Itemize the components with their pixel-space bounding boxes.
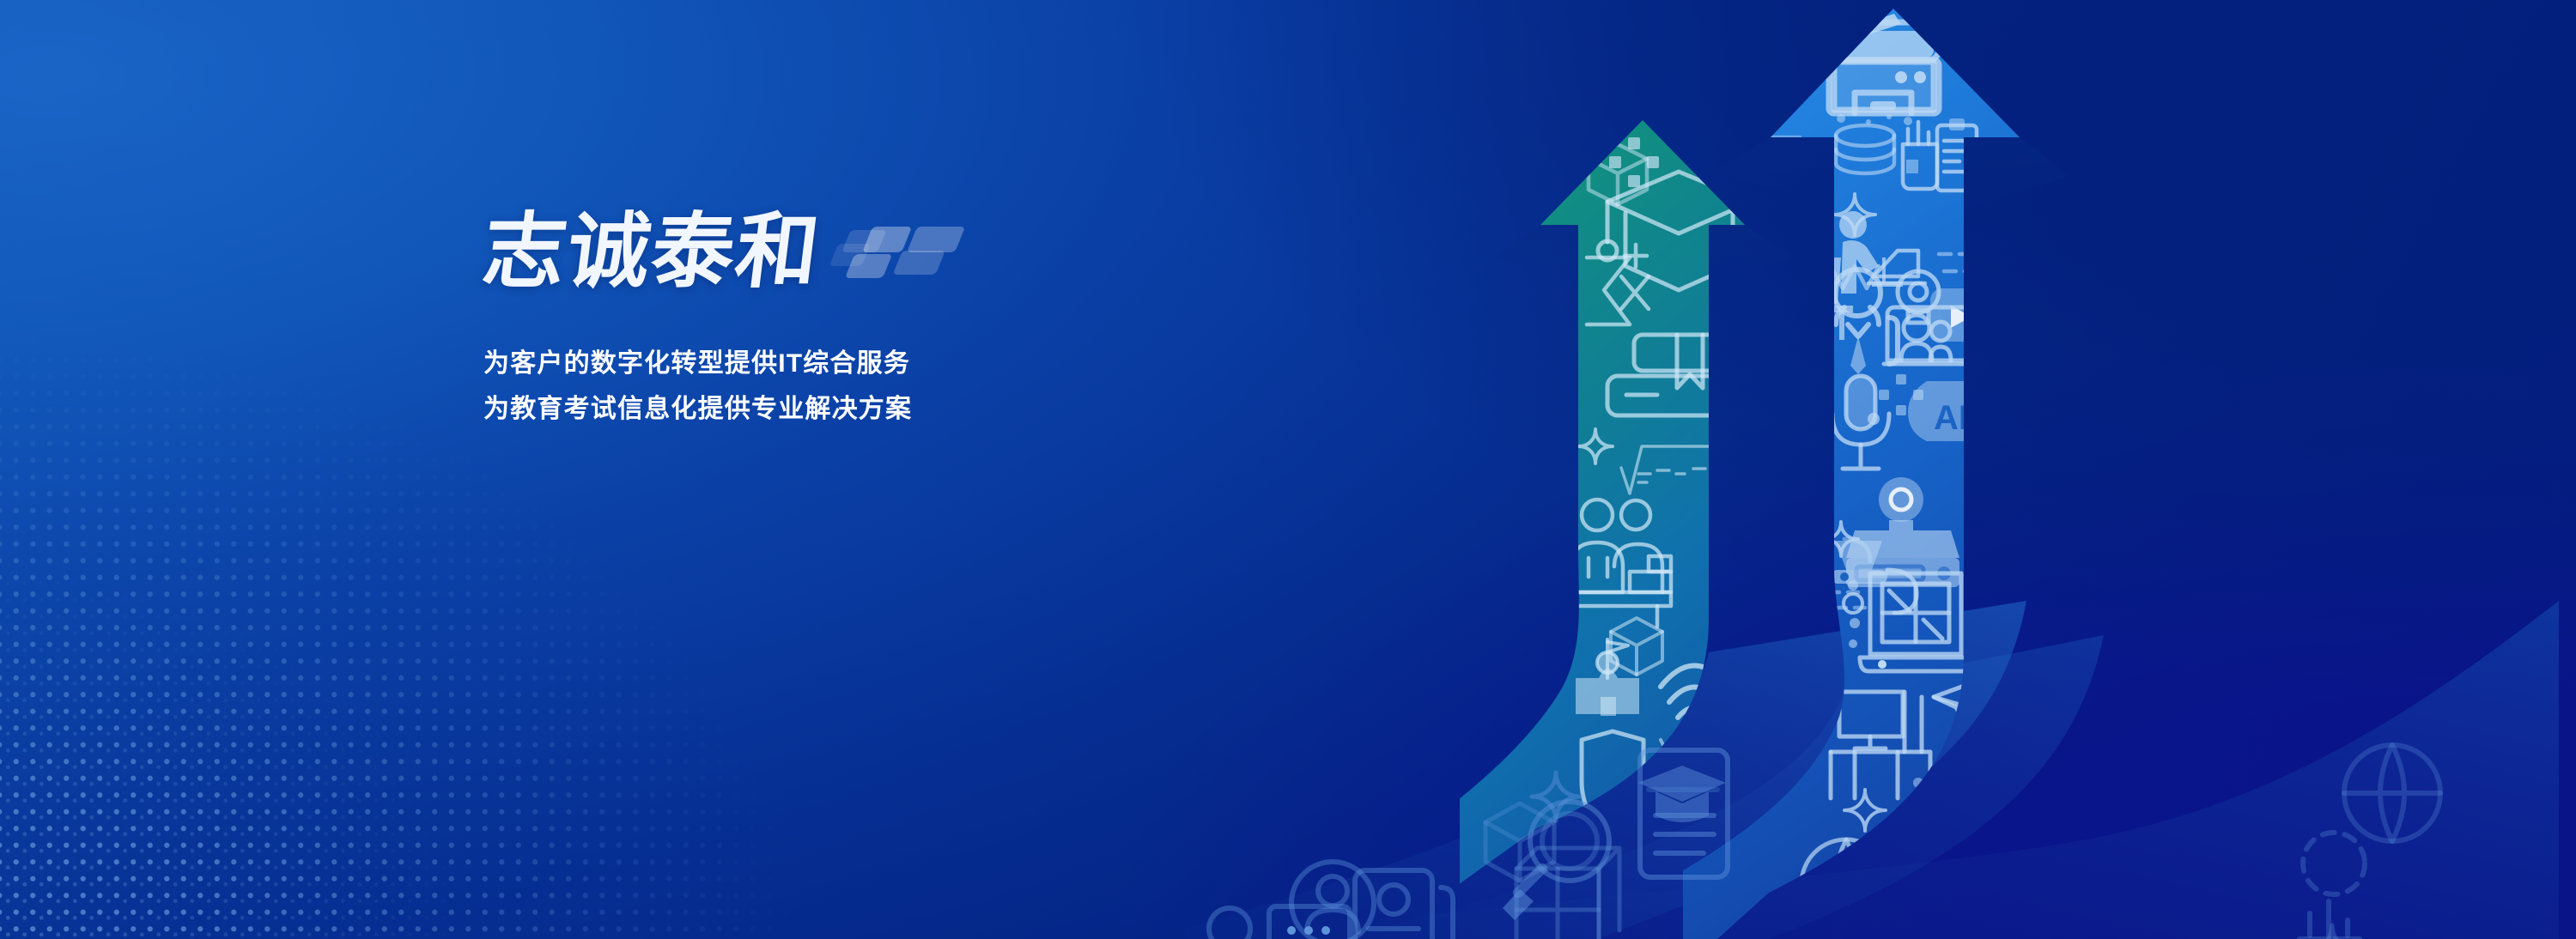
hero-banner: AI [0, 0, 2576, 939]
parallelogram-blocks-icon [829, 225, 992, 285]
printer-scanner-icon [1829, 14, 1939, 113]
education-arrow-head-shadow-right [1709, 225, 1795, 283]
tagline: 为客户的数字化转型提供IT综合服务 为教育考试信息化提供专业解决方案 [483, 348, 1256, 424]
arrow-illustration: AI [0, 0, 2576, 939]
hero-text-block: 志诚泰和 为客户的数字化转型提供IT综合服务 为教育考试信息化提供专业解决方案 [483, 204, 1256, 424]
ai-head-icon: AI [1908, 381, 1971, 441]
brand-name: 志诚泰和 [477, 204, 826, 300]
it-arrow-head-shadow-right [1964, 137, 2069, 210]
svg-text:AI: AI [1934, 399, 1968, 437]
brand-logo[interactable]: 志诚泰和 [483, 204, 1256, 307]
it-arrow-head-shadow-left [1716, 137, 1834, 206]
education-arrow-head-shadow-left [1494, 225, 1578, 283]
tagline-line-1: 为客户的数字化转型提供IT综合服务 [483, 348, 1256, 379]
tagline-line-2: 为教育考试信息化提供专业解决方案 [483, 394, 1256, 424]
